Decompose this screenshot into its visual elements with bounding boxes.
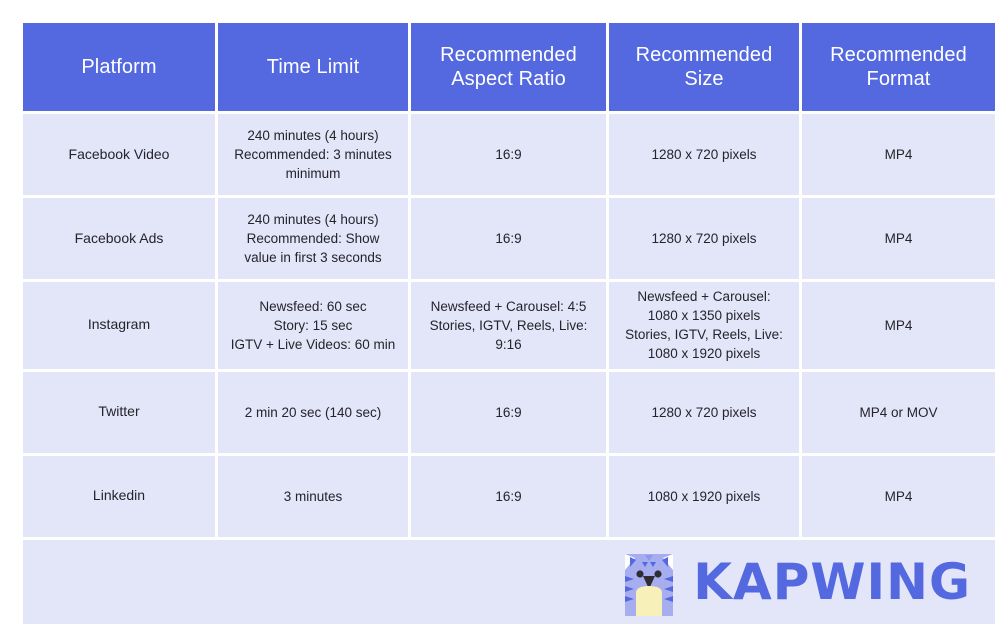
cell-text: Twitter [32,402,206,422]
cell-format: MP4 [802,282,995,369]
kapwing-wordmark: KAPWING [693,557,971,607]
kapwing-cat-icon [621,548,677,616]
cell-text-line: Recommended: 3 minutes [227,145,399,164]
cell-text-line: Story: 15 sec [227,316,399,335]
kapwing-logo: KAPWING [23,540,995,624]
cell-text-line: 1280 x 720 pixels [618,145,790,164]
column-header-size-line2: Size [617,67,791,91]
cell-text-line: Newsfeed + Carousel: 4:5 [420,297,597,316]
cell-aspect_ratio: 16:9 [411,198,606,279]
column-header-format: Recommended Format [802,23,995,111]
column-header-size-line1: Recommended [617,43,791,67]
cell-text-line: 16:9 [420,145,597,164]
cell-text-line: 9:16 [420,335,597,354]
column-header-aspect-ratio: Recommended Aspect Ratio [411,23,606,111]
cell-text-line: 16:9 [420,487,597,506]
cell-aspect_ratio: Newsfeed + Carousel: 4:5Stories, IGTV, R… [411,282,606,369]
cell-text-line: Newsfeed + Carousel: [618,287,790,306]
cell-text-line: 1080 x 1350 pixels [618,306,790,325]
cell-text-line: 1080 x 1920 pixels [618,487,790,506]
cell-time_limit: 3 minutes [218,456,408,537]
cell-text-line: 16:9 [420,229,597,248]
table-row: Linkedin3 minutes16:91080 x 1920 pixelsM… [23,456,995,537]
cell-text-line: Stories, IGTV, Reels, Live: [420,316,597,335]
social-video-specs-table: Platform Time Limit Recommended Aspect R… [20,20,998,626]
table-footer: KAPWING [23,540,995,624]
column-header-time-limit-label: Time Limit [267,56,359,78]
column-header-size: Recommended Size [609,23,799,111]
cell-size: Newsfeed + Carousel:1080 x 1350 pixelsSt… [609,282,799,369]
cell-text: Instagram [32,315,206,335]
footer-row: KAPWING [23,540,995,624]
cell-text-line: MP4 or MOV [811,403,986,422]
table-row: Facebook Video240 minutes (4 hours)Recom… [23,114,995,195]
cell-platform: Linkedin [23,456,215,537]
cell-aspect_ratio: 16:9 [411,456,606,537]
cell-text-line: MP4 [811,229,986,248]
column-header-aspect-ratio-line1: Recommended [419,43,598,67]
cell-text-line: MP4 [811,145,986,164]
table-body: Facebook Video240 minutes (4 hours)Recom… [23,114,995,537]
cell-platform: Facebook Ads [23,198,215,279]
cell-text-line: 3 minutes [227,487,399,506]
cell-size: 1080 x 1920 pixels [609,456,799,537]
cell-format: MP4 or MOV [802,372,995,453]
column-header-format-line1: Recommended [810,43,987,67]
cell-text-line: MP4 [811,316,986,335]
cell-text-line: 240 minutes (4 hours) [227,210,399,229]
cell-text-line: Recommended: Show [227,229,399,248]
table-header: Platform Time Limit Recommended Aspect R… [23,23,995,111]
column-header-platform: Platform [23,23,215,111]
cell-text: Facebook Video [32,145,206,165]
cell-format: MP4 [802,114,995,195]
cell-platform: Twitter [23,372,215,453]
cell-aspect_ratio: 16:9 [411,114,606,195]
cell-aspect_ratio: 16:9 [411,372,606,453]
cell-platform: Facebook Video [23,114,215,195]
cell-time_limit: 240 minutes (4 hours)Recommended: Showva… [218,198,408,279]
column-header-aspect-ratio-line2: Aspect Ratio [419,67,598,91]
cell-size: 1280 x 720 pixels [609,198,799,279]
cell-time_limit: 2 min 20 sec (140 sec) [218,372,408,453]
cell-text-line: 1280 x 720 pixels [618,229,790,248]
cell-text-line: MP4 [811,487,986,506]
cell-text-line: minimum [227,164,399,183]
table-row: InstagramNewsfeed: 60 secStory: 15 secIG… [23,282,995,369]
cell-format: MP4 [802,456,995,537]
header-row: Platform Time Limit Recommended Aspect R… [23,23,995,111]
cell-size: 1280 x 720 pixels [609,372,799,453]
cell-text-line: 1280 x 720 pixels [618,403,790,422]
cell-size: 1280 x 720 pixels [609,114,799,195]
cell-time_limit: 240 minutes (4 hours)Recommended: 3 minu… [218,114,408,195]
cell-text-line: 240 minutes (4 hours) [227,126,399,145]
cell-format: MP4 [802,198,995,279]
table-row: Twitter2 min 20 sec (140 sec)16:91280 x … [23,372,995,453]
cell-text-line: Newsfeed: 60 sec [227,297,399,316]
column-header-time-limit: Time Limit [218,23,408,111]
footer-logo-cell: KAPWING [23,540,995,624]
column-header-format-line2: Format [810,67,987,91]
page-root: Platform Time Limit Recommended Aspect R… [0,0,1000,626]
cell-text: Linkedin [32,486,206,506]
cell-text-line: value in first 3 seconds [227,248,399,267]
cell-text: Facebook Ads [32,229,206,249]
table-row: Facebook Ads240 minutes (4 hours)Recomme… [23,198,995,279]
cell-time_limit: Newsfeed: 60 secStory: 15 secIGTV + Live… [218,282,408,369]
cell-text-line: 16:9 [420,403,597,422]
cell-text-line: 1080 x 1920 pixels [618,344,790,363]
cell-text-line: 2 min 20 sec (140 sec) [227,403,399,422]
column-header-platform-label: Platform [81,56,156,78]
cell-text-line: Stories, IGTV, Reels, Live: [618,325,790,344]
cell-text-line: IGTV + Live Videos: 60 min [227,335,399,354]
cell-platform: Instagram [23,282,215,369]
